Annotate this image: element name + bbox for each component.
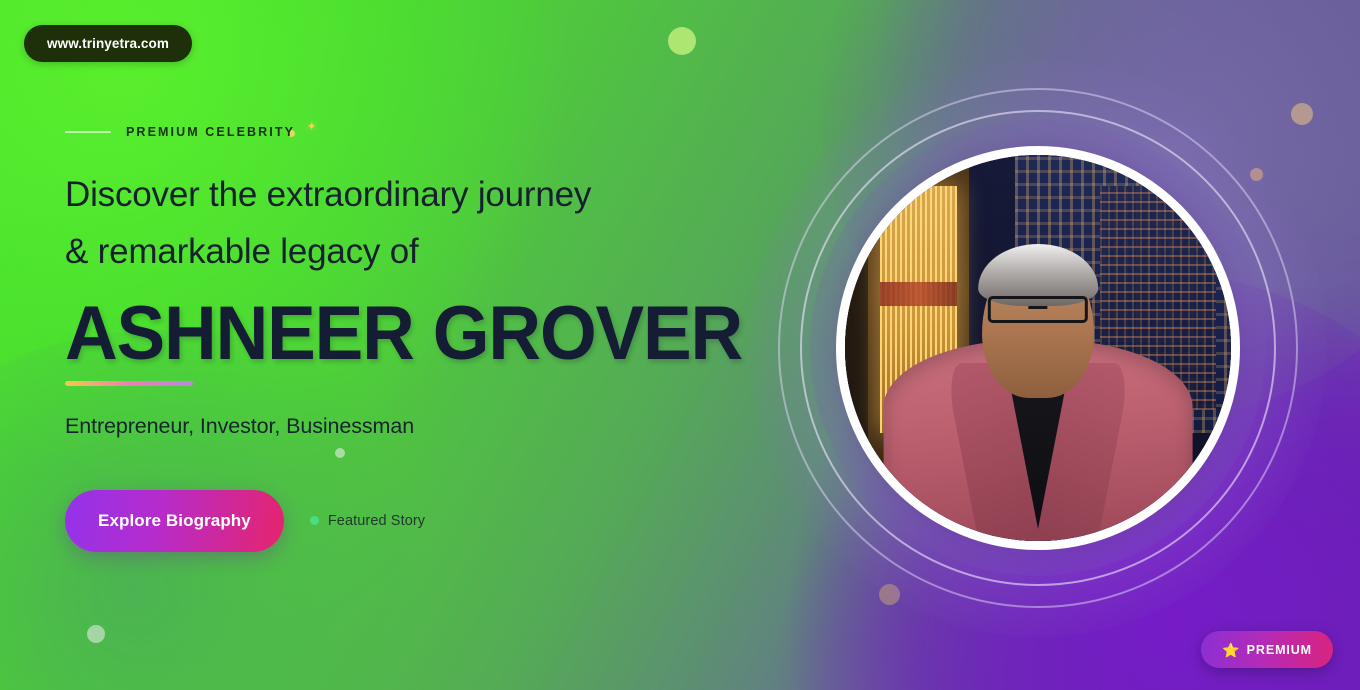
portrait-stage [748,58,1328,638]
sparkle-icon: ✦ [307,122,316,133]
dot-left-bottom [87,625,105,643]
site-url-label: www.trinyetra.com [47,36,169,51]
photo-eyeglasses [988,296,1088,323]
eyebrow: PREMIUM CELEBRITY ✦ [65,118,765,146]
premium-badge[interactable]: ⭐ PREMIUM [1201,631,1333,668]
name-underline-accent [65,381,193,386]
star-icon: ⭐ [1222,643,1239,657]
headline-line-1: Discover the extraordinary journey [65,167,765,224]
featured-story-label: Featured Story [328,513,425,529]
featured-story-chip: Featured Story [310,513,425,529]
hero-banner: www.trinyetra.com PREMIUM CELEBRITY ✦ Di… [0,0,1360,690]
celebrity-name: ASHNEER GROVER [65,297,737,371]
site-url-badge[interactable]: www.trinyetra.com [24,25,192,62]
explore-biography-button[interactable]: Explore Biography [65,490,284,552]
cta-row: Explore Biography Featured Story [65,490,765,552]
celebrity-portrait-photo[interactable] [845,155,1231,541]
celebrity-subtitle: Entrepreneur, Investor, Businessman [65,414,765,439]
photo-chandelier-band [880,282,957,305]
eyebrow-label: PREMIUM CELEBRITY [126,125,295,139]
headline-line-2: & remarkable legacy of [65,224,765,281]
eyebrow-divider-line [65,131,111,133]
status-dot-icon [310,516,319,525]
hero-content-column: PREMIUM CELEBRITY ✦ Discover the extraor… [65,118,765,552]
dot-top-green [668,27,696,55]
page-title: Discover the extraordinary journey & rem… [65,167,765,280]
premium-label: PREMIUM [1247,643,1312,657]
photo-eyeglasses-bridge [1028,306,1047,309]
